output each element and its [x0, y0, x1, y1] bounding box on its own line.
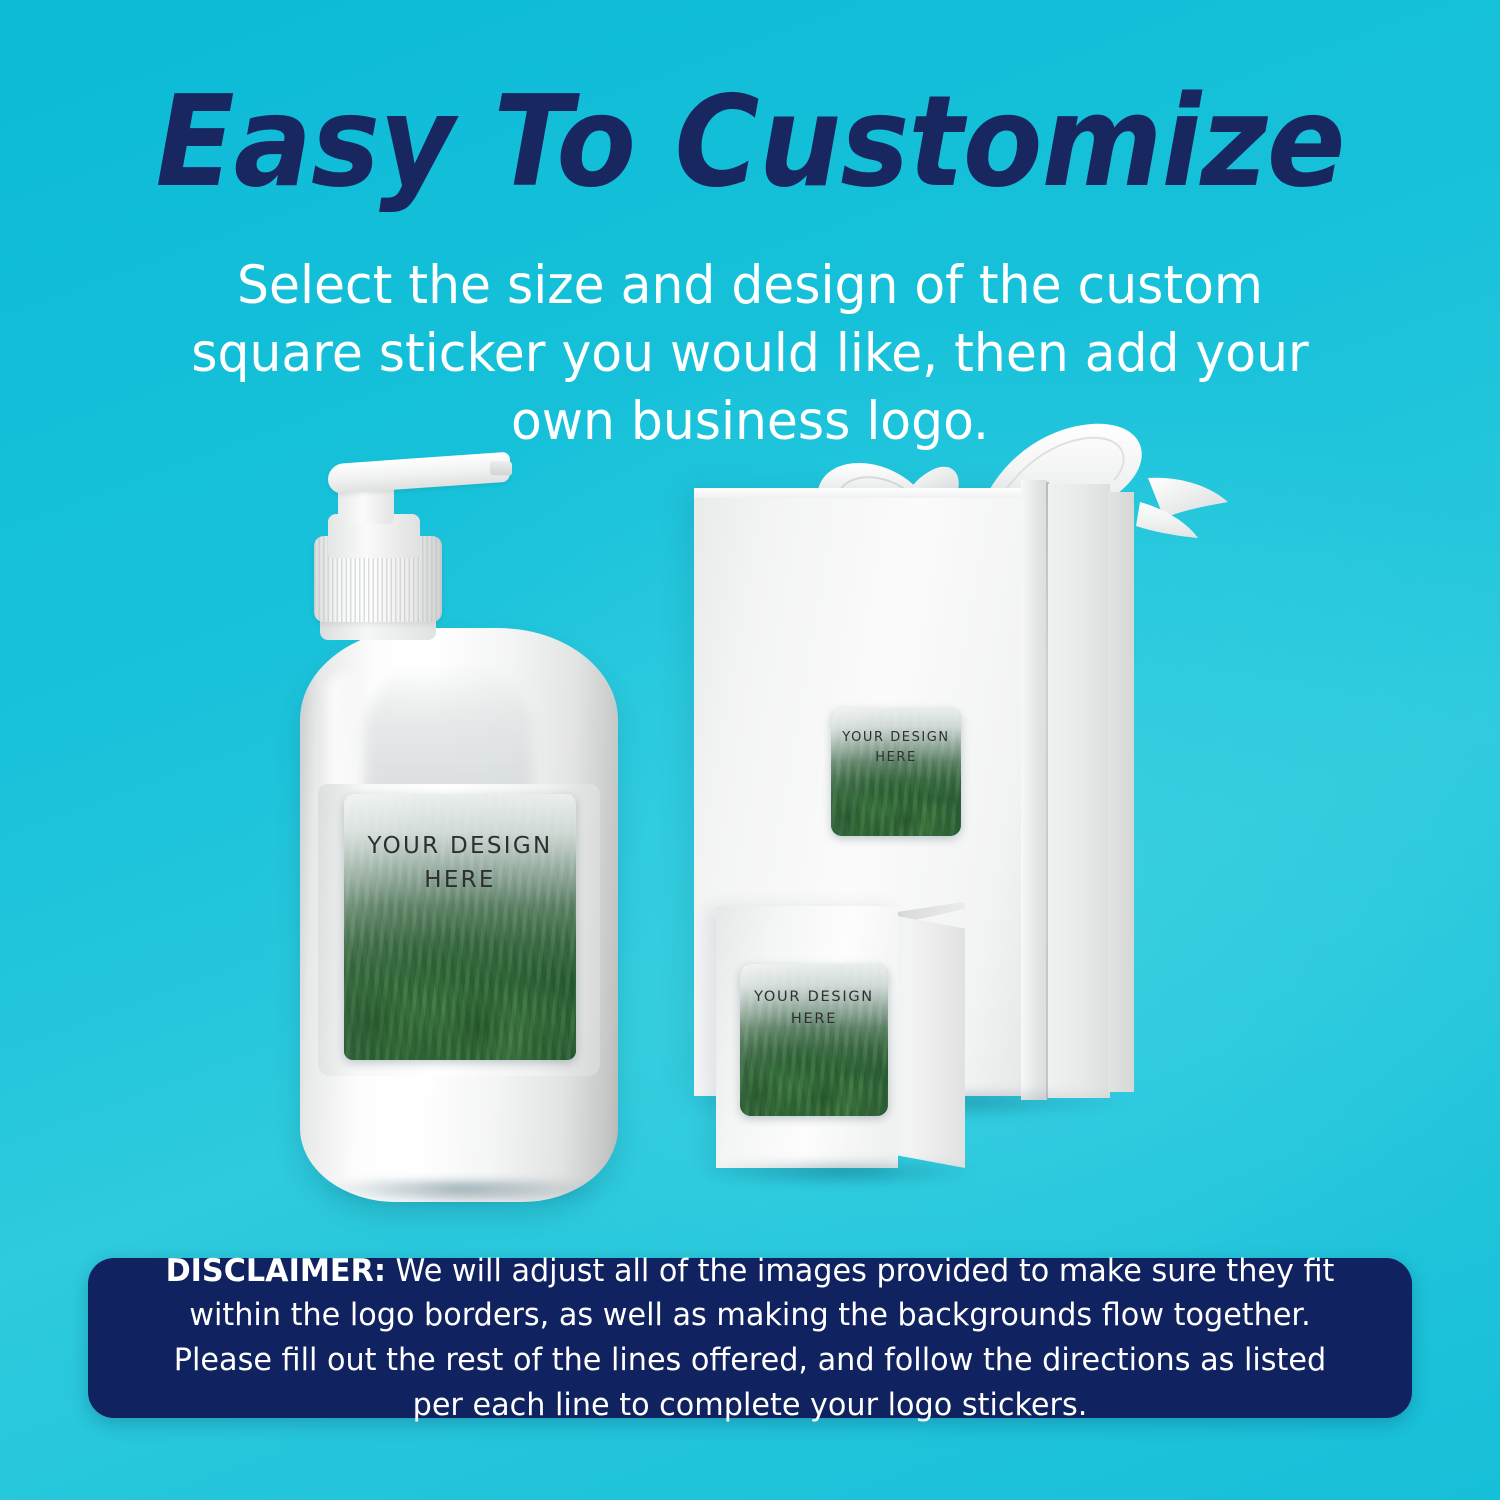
sticker-caption-line1: YOUR DESIGN: [344, 829, 576, 864]
sticker-caption: YOUR DESIGN HERE: [344, 829, 576, 898]
forest-photo: [831, 708, 961, 836]
disclaimer-label: DISCLAIMER:: [166, 1253, 386, 1289]
pump-bottle-product: YOUR DESIGN HERE: [300, 432, 640, 1222]
sticker-caption-line2: HERE: [344, 863, 576, 898]
disclaimer-text: DISCLAIMER: We will adjust all of the im…: [114, 1249, 1385, 1428]
sticker-on-gift-box: YOUR DESIGN HERE: [831, 708, 961, 836]
sticker-caption: YOUR DESIGN HERE: [831, 728, 961, 767]
bottle-shadow: [322, 1180, 602, 1206]
sticker-on-small-box: YOUR DESIGN HERE: [740, 964, 888, 1116]
gift-box-back-panel: [1108, 492, 1134, 1092]
sticker-caption: YOUR DESIGN HERE: [740, 987, 888, 1031]
small-box-side-panel: [897, 916, 965, 1168]
bottle-pump-nozzle: [328, 452, 510, 495]
gift-box-side-panel: [1048, 484, 1110, 1098]
page-title: Easy To Customize: [60, 78, 1440, 207]
sticker-caption-line2: HERE: [740, 1009, 888, 1031]
disclaimer-banner: DISCLAIMER: We will adjust all of the im…: [88, 1258, 1412, 1418]
small-box-product: YOUR DESIGN HERE: [708, 896, 988, 1186]
promo-graphic: Easy To Customize Select the size and de…: [0, 0, 1500, 1500]
sticker-caption-line1: YOUR DESIGN: [740, 987, 888, 1009]
gift-box-lid-edge: [1021, 480, 1047, 1100]
sticker-caption-line1: YOUR DESIGN: [831, 728, 961, 748]
small-box-shadow: [708, 1162, 976, 1186]
sticker-on-bottle: YOUR DESIGN HERE: [344, 794, 576, 1060]
sticker-caption-line2: HERE: [831, 748, 961, 768]
